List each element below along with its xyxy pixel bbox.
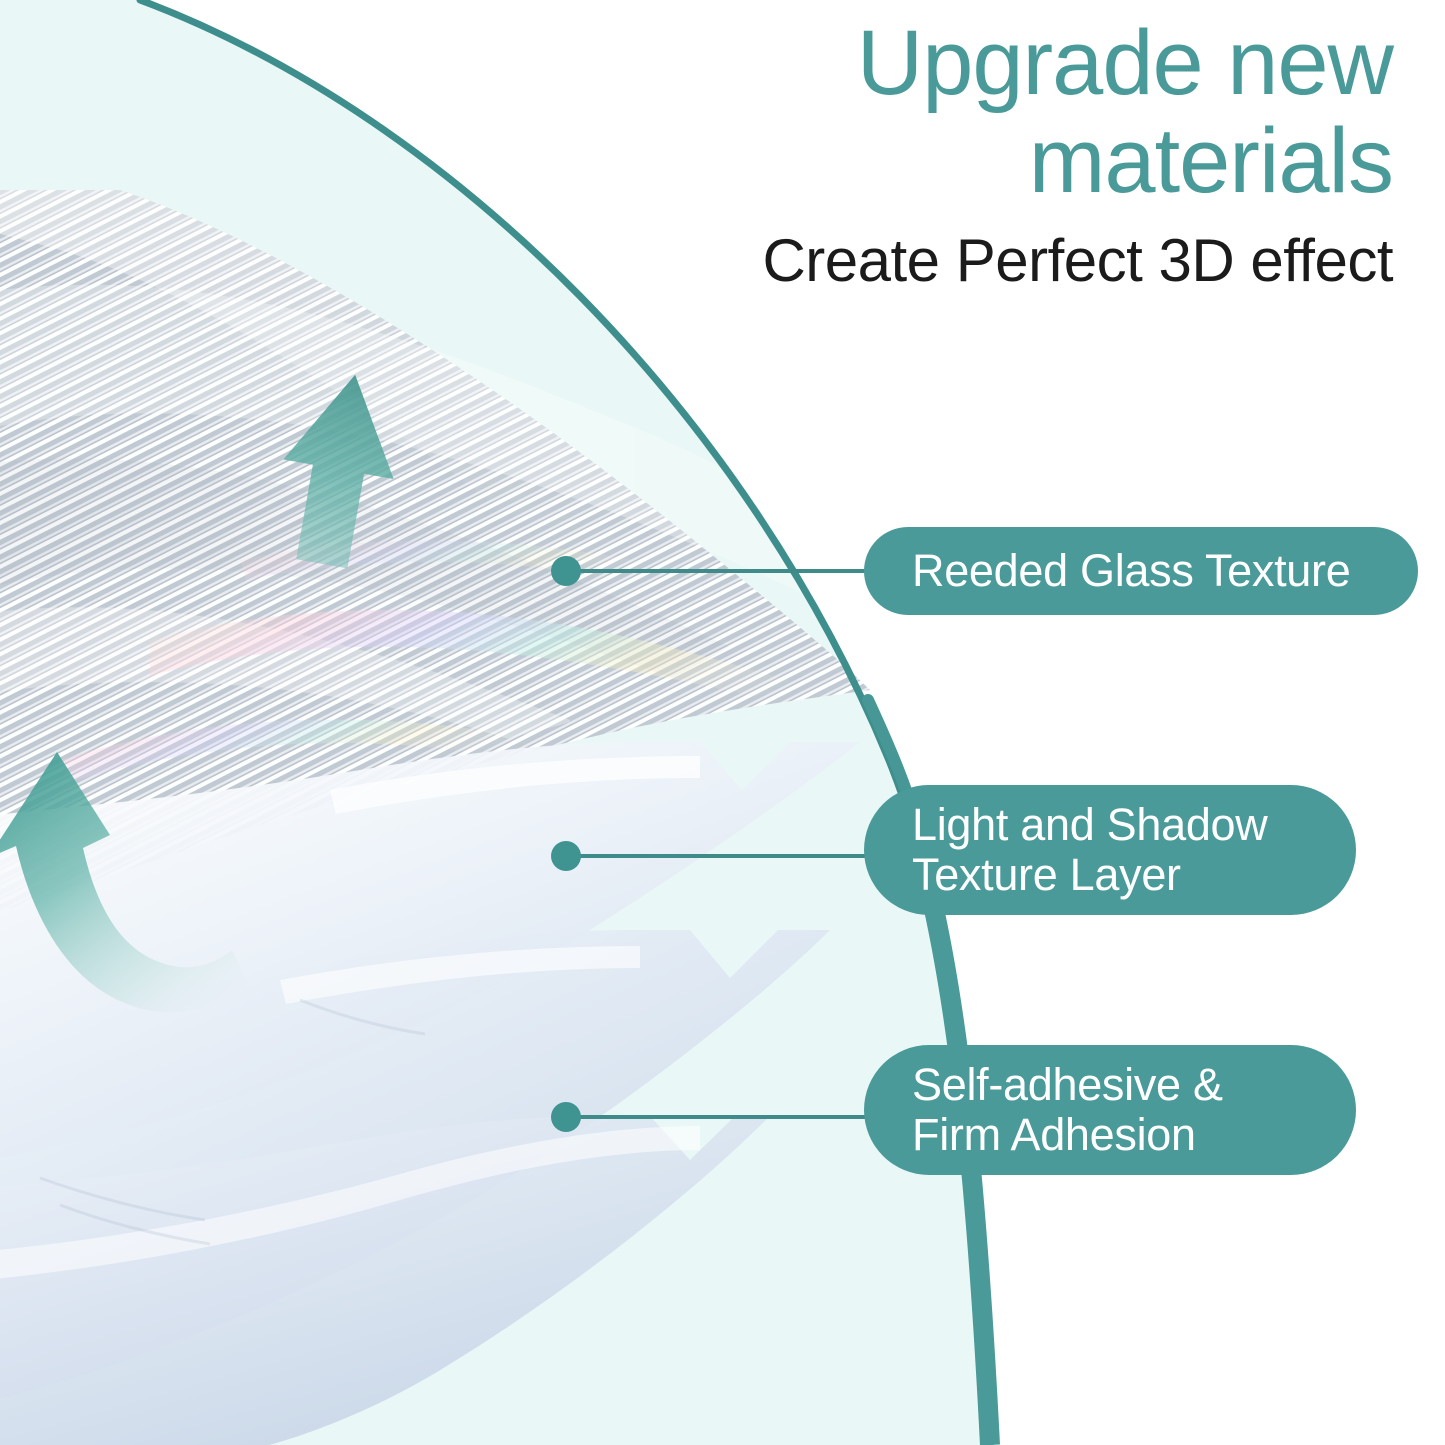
- callout-label-reeded-glass-texture: Reeded Glass Texture: [912, 546, 1350, 596]
- headline-line-1: Upgrade new: [603, 14, 1393, 112]
- infographic-canvas: Upgrade new materials Create Perfect 3D …: [0, 0, 1445, 1445]
- leader-dot-self-adhesive-firm-adhesion: [551, 1102, 581, 1132]
- callout-pill-light-and-shadow-texture-layer: Light and Shadow Texture Layer: [864, 785, 1356, 915]
- leader-dot-light-and-shadow-texture-layer: [551, 841, 581, 871]
- callout-pill-reeded-glass-texture: Reeded Glass Texture: [864, 527, 1418, 615]
- subheadline: Create Perfect 3D effect: [603, 229, 1393, 292]
- callout-label-light-and-shadow-texture-layer: Light and Shadow Texture Layer: [912, 800, 1268, 901]
- headline-line-2: materials: [603, 112, 1393, 210]
- callout-pill-self-adhesive-firm-adhesion: Self-adhesive & Firm Adhesion: [864, 1045, 1356, 1175]
- leader-dot-reeded-glass-texture: [551, 556, 581, 586]
- callout-label-self-adhesive-firm-adhesion: Self-adhesive & Firm Adhesion: [912, 1060, 1223, 1161]
- headline-block: Upgrade new materials Create Perfect 3D …: [603, 14, 1393, 292]
